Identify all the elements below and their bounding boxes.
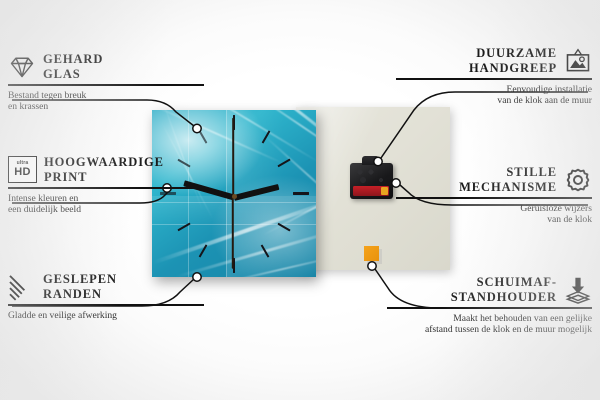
ultra-hd-icon-main: HD bbox=[14, 167, 31, 178]
hands-center-pin bbox=[232, 194, 237, 199]
feature-desc-line1: Gladde en veilige afwerking bbox=[8, 310, 117, 321]
divider bbox=[8, 84, 204, 86]
battery bbox=[353, 186, 389, 196]
diamond-icon bbox=[8, 53, 36, 81]
infographic-canvas: GEHARD GLAS Bestand tegen breuk en krass… bbox=[0, 0, 600, 400]
divider bbox=[387, 307, 592, 309]
ultra-hd-icon: ultra HD bbox=[8, 156, 37, 183]
clock-tick bbox=[199, 130, 208, 143]
feature-title-line1: GESLEPEN bbox=[43, 272, 117, 286]
divider bbox=[8, 187, 204, 189]
divider bbox=[396, 78, 592, 80]
beveled-edges-icon bbox=[8, 273, 36, 301]
feature-geslepen-randen: GESLEPEN RANDEN Gladde en veilige afwerk… bbox=[8, 272, 204, 321]
feature-hoogwaardige-print: ultra HD HOOGWAARDIGE PRINT Intense kleu… bbox=[8, 155, 204, 216]
feature-title-line2: HANDGREEP bbox=[469, 61, 557, 75]
feature-title-line2: PRINT bbox=[44, 170, 87, 184]
feature-desc-line1: Maakt het behouden van een gelijke bbox=[453, 313, 592, 324]
feature-desc-line2: van de klok bbox=[547, 214, 592, 225]
mechanism-detail bbox=[354, 168, 388, 184]
feature-title-line1: SCHUIMAF- bbox=[477, 275, 557, 289]
feature-desc-line2: afstand tussen de klok en de muur mogeli… bbox=[425, 324, 592, 335]
feature-title-line2: GLAS bbox=[43, 67, 81, 81]
feature-desc-line1: Intense kleuren en bbox=[8, 193, 78, 204]
feature-desc-line2: een duidelijk beeld bbox=[8, 204, 81, 215]
clock-tick bbox=[293, 192, 309, 195]
feature-desc-line2: van de klok aan de muur bbox=[497, 95, 592, 106]
feature-title-line1: DUURZAME bbox=[476, 46, 557, 60]
divider bbox=[8, 304, 204, 306]
clock-mechanism bbox=[350, 163, 393, 199]
feature-desc-line2: en krassen bbox=[8, 101, 48, 112]
feature-title-line1: GEHARD bbox=[43, 52, 103, 66]
feature-duurzame-handgreep: DUURZAME HANDGREEP Eenvoudige installati… bbox=[396, 46, 592, 107]
feature-title-line2: RANDEN bbox=[43, 287, 102, 301]
feature-desc-line1: Eenvoudige installatie bbox=[506, 84, 592, 95]
feature-title-line2: STANDHOUDER bbox=[451, 290, 557, 304]
feature-stille-mechanisme: STILLE MECHANISME Geruisloze wijzers van… bbox=[396, 165, 592, 226]
feature-desc-line1: Bestand tegen breuk bbox=[8, 90, 86, 101]
divider bbox=[396, 197, 592, 199]
feature-title-line1: STILLE bbox=[506, 165, 557, 179]
feature-gehard-glas: GEHARD GLAS Bestand tegen breuk en krass… bbox=[8, 52, 204, 113]
picture-frame-hanger-icon bbox=[564, 47, 592, 75]
foam-spacer-pad bbox=[364, 246, 379, 261]
gear-icon bbox=[564, 166, 592, 194]
feature-schuimafstandhouder: SCHUIMAF- STANDHOUDER Maakt het behouden… bbox=[387, 275, 592, 336]
feature-title-line2: MECHANISME bbox=[459, 180, 557, 194]
mechanism-hanger-tab bbox=[362, 156, 379, 165]
feature-title-line1: HOOGWAARDIGE bbox=[44, 155, 164, 169]
press-down-pad-icon bbox=[564, 276, 592, 304]
feature-desc-line1: Geruisloze wijzers bbox=[520, 203, 592, 214]
